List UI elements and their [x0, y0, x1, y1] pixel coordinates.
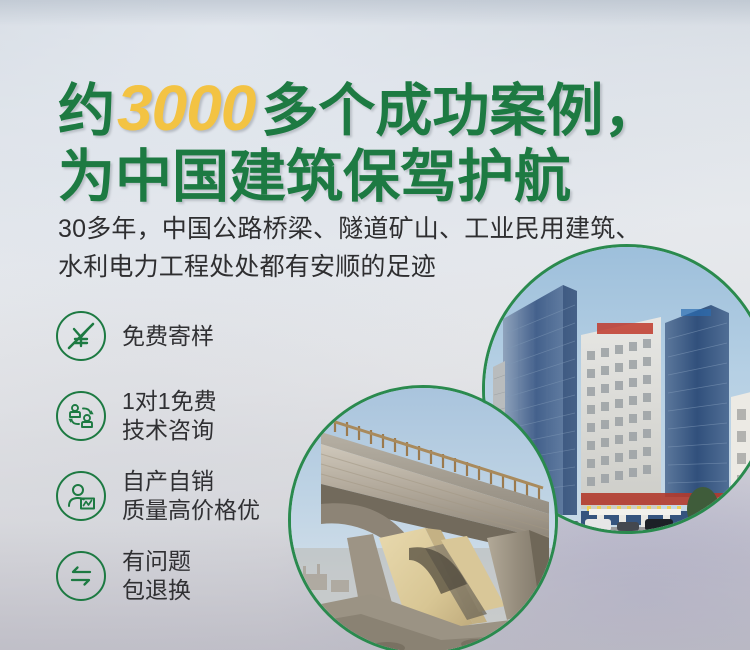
headline-line-1: 约3000多个成功案例， [58, 76, 718, 143]
feature-line-1: 自产自销 [122, 467, 260, 496]
feature-item-return-exchange: 有问题 包退换 [56, 536, 316, 616]
feature-text-consultation: 1对1免费 技术咨询 [122, 387, 217, 445]
self-produce-sell-icon [56, 471, 106, 521]
feature-list: 免费寄样 1对1 [56, 296, 316, 616]
feature-line-2: 包退换 [122, 576, 191, 605]
headline-suffix: 多个成功案例， [261, 79, 660, 143]
feature-line-1: 1对1免费 [122, 387, 217, 416]
return-exchange-icon [56, 551, 106, 601]
no-fee-yuan-icon [56, 311, 106, 361]
feature-item-consultation: 1对1免费 技术咨询 [56, 376, 316, 456]
feature-line-1: 免费寄样 [122, 323, 214, 349]
feature-text-self-production: 自产自销 质量高价格优 [122, 467, 260, 525]
background-top-band [0, 0, 750, 26]
headline-number: 3000 [115, 72, 261, 144]
headline-prefix: 约 [58, 79, 115, 143]
feature-text-return-exchange: 有问题 包退换 [122, 547, 191, 605]
feature-text-free-sample: 免费寄样 [122, 322, 214, 351]
feature-item-free-sample: 免费寄样 [56, 296, 316, 376]
promotional-banner: 约3000多个成功案例， 为中国建筑保驾护航 30多年，中国公路桥梁、隧道矿山、… [0, 0, 750, 650]
headline: 约3000多个成功案例， 为中国建筑保驾护航 [58, 76, 718, 209]
subheading-line-1: 30多年，中国公路桥梁、隧道矿山、工业民用建筑、 [58, 210, 730, 248]
feature-item-self-production: 自产自销 质量高价格优 [56, 456, 316, 536]
feature-line-2: 技术咨询 [122, 416, 217, 445]
headline-line-2: 为中国建筑保驾护航 [58, 145, 718, 209]
bridge-viaduct-photo [288, 385, 558, 650]
one-to-one-consult-icon [56, 391, 106, 441]
feature-line-2: 质量高价格优 [122, 496, 260, 525]
feature-line-1: 有问题 [122, 547, 191, 576]
